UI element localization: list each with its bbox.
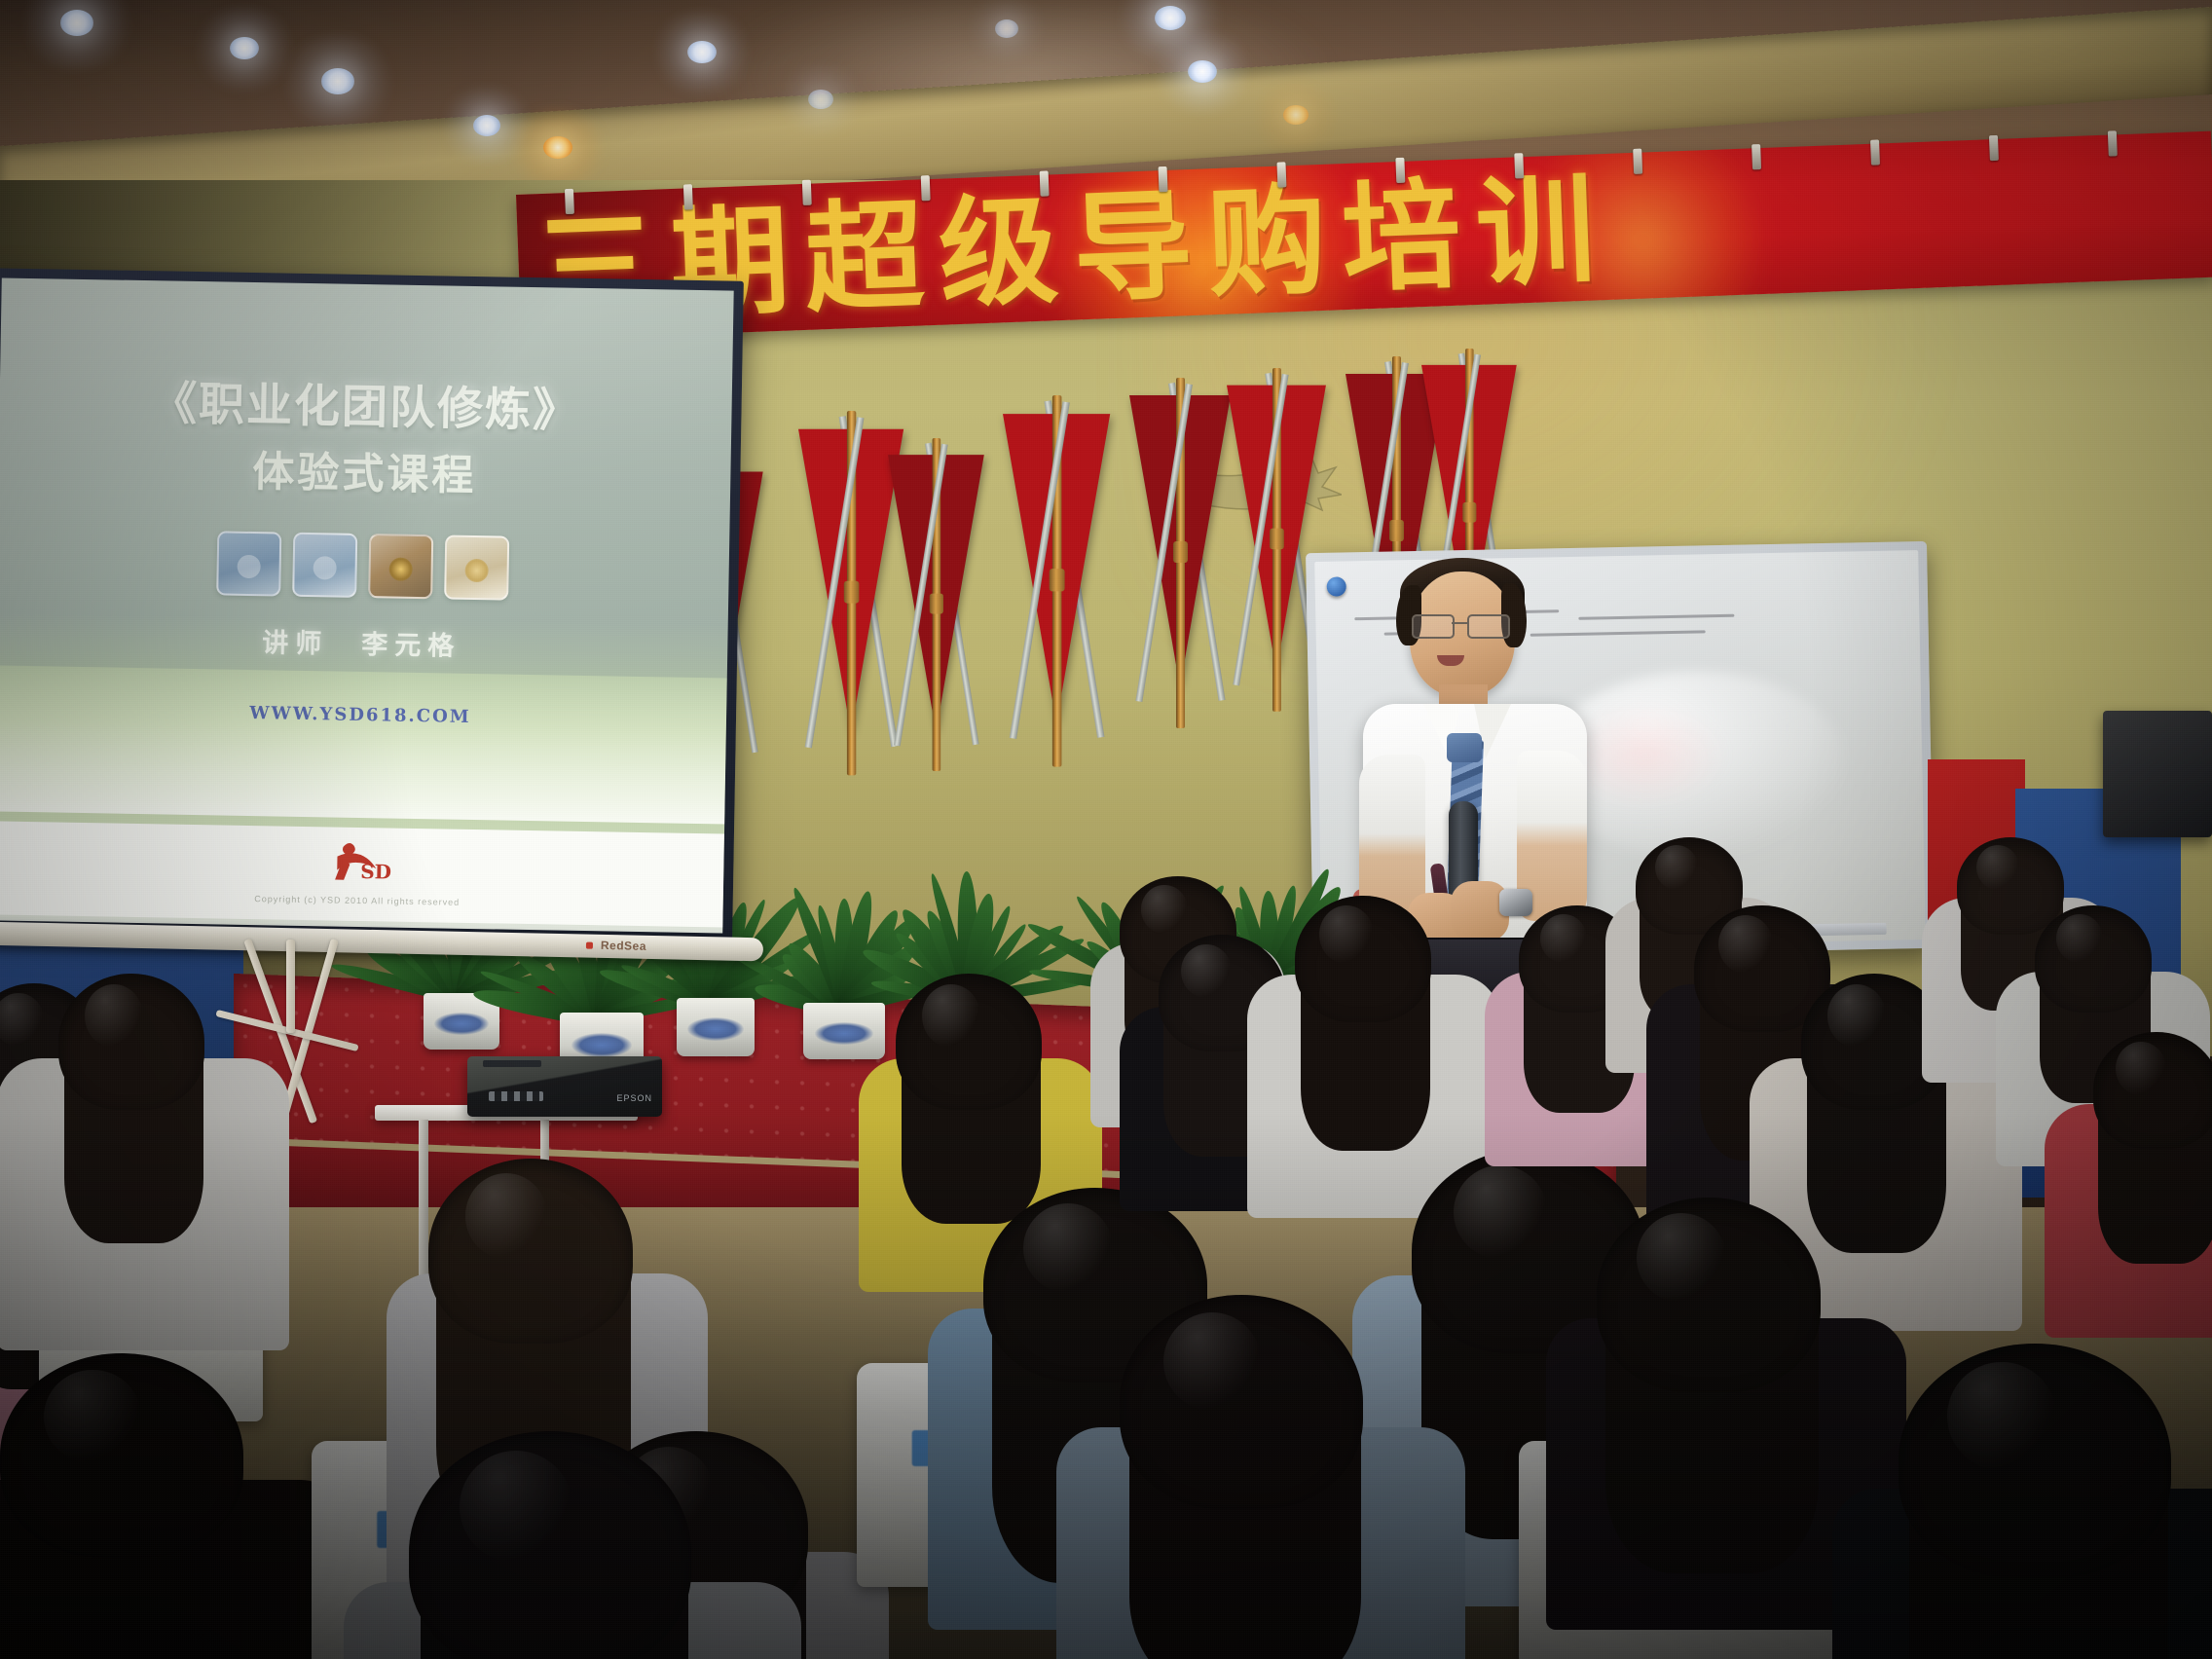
audience-member (1120, 1295, 1529, 1659)
ceiling-spotlight (230, 37, 259, 59)
ceramic-pot (677, 998, 755, 1056)
audience-head (428, 1159, 633, 1344)
banner-clip-icon (683, 184, 693, 209)
photo-scene: 三期超级导购培训 (0, 0, 2212, 1659)
glasses-icon (1412, 614, 1515, 636)
slide-subtitle: 体验式课程 (0, 433, 731, 506)
banner-clip-icon (921, 175, 931, 201)
ceiling-spotlight (1188, 60, 1217, 83)
audience-head (409, 1431, 691, 1659)
ceiling-spotlight (473, 115, 500, 136)
ceiling-spotlight (321, 68, 354, 94)
banner-clip-icon (1395, 158, 1405, 183)
ceiling-spotlight (995, 19, 1018, 38)
ceiling-spotlight (808, 90, 833, 109)
slide-thumbnail-2 (292, 533, 357, 598)
banner-clip-icon (802, 180, 812, 205)
audience-head (0, 1353, 243, 1558)
projector-vent-icon (483, 1060, 541, 1067)
slide-green-band (0, 665, 727, 824)
banner-clip-icon (565, 189, 574, 214)
slide-thumbnail-row (0, 527, 729, 604)
audience-head (1295, 896, 1431, 1022)
audience-head (1899, 1344, 2171, 1577)
projected-slide: 《职业化团队修炼》 体验式课程 讲师 李元格 WWW.YSD618.COM SD (0, 277, 734, 933)
slide-thumbnail-1 (216, 531, 281, 596)
banner-clip-icon (1870, 139, 1880, 165)
projector-button-icon (489, 1091, 543, 1101)
roller-brand-label: RedSea (601, 939, 646, 953)
loudspeaker-box (2103, 711, 2212, 837)
projector-brand-label: EPSON (616, 1093, 652, 1103)
slide-thumbnail-3 (368, 534, 433, 599)
banner-clip-icon (1276, 162, 1286, 187)
banner-clip-icon (1751, 144, 1761, 169)
banner-clip-icon (1040, 170, 1050, 196)
ceiling-spotlight (543, 136, 572, 159)
audience-member (1899, 1344, 2212, 1659)
banner-clip-icon (1159, 166, 1168, 192)
banner-clip-icon (2108, 130, 2118, 156)
ceiling-spotlight (1155, 6, 1186, 30)
roller-brand-dot-icon (586, 942, 593, 949)
ceiling-spotlight (1283, 105, 1309, 125)
audience-head (2093, 1032, 2212, 1149)
ceiling-spotlight (687, 41, 717, 63)
magnet-icon (1327, 576, 1346, 596)
ysd-logo-icon: SD (315, 840, 400, 884)
svg-text:SD: SD (360, 860, 391, 884)
ceiling-spotlight (60, 10, 93, 36)
banner-clip-icon (1989, 135, 1999, 161)
ceramic-pot (803, 1003, 885, 1059)
presenter-tie-knot (1447, 733, 1482, 762)
epson-projector: EPSON (467, 1056, 662, 1117)
audience-head (1120, 1295, 1363, 1509)
projection-screen: 《职业化团队修炼》 体验式课程 讲师 李元格 WWW.YSD618.COM SD (0, 268, 744, 942)
audience-head (58, 974, 204, 1110)
banner-clip-icon (1633, 149, 1642, 174)
audience-member (409, 1431, 866, 1659)
audience-head (896, 974, 1042, 1110)
slide-title: 《职业化团队修炼》 (0, 371, 732, 444)
audience-head (2035, 905, 2152, 1013)
audience-head (1597, 1198, 1821, 1392)
slide-thumbnail-4 (444, 535, 509, 600)
banner-clip-icon (1514, 153, 1524, 178)
